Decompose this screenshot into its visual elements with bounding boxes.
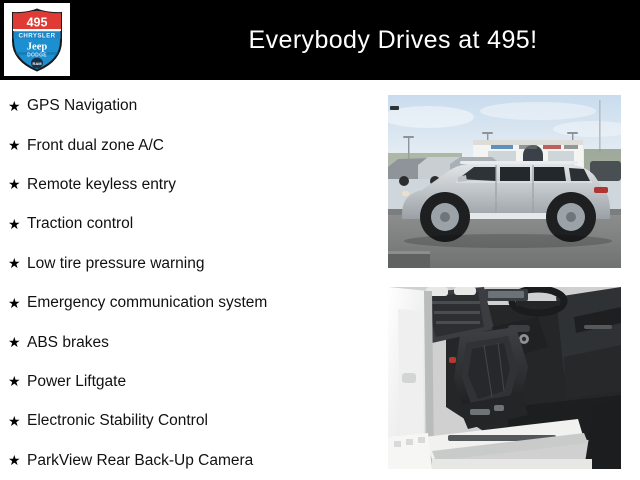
vehicle-exterior-photo[interactable] <box>388 95 621 268</box>
star-bullet-icon: ★ <box>8 177 27 191</box>
slide-root: 495 CHRYSLER Jeep DODGE RAM Everybody Dr… <box>0 0 640 480</box>
list-item: ★ Low tire pressure warning <box>0 244 380 283</box>
svg-text:CHRYSLER: CHRYSLER <box>18 32 55 39</box>
list-item: ★ Traction control <box>0 204 380 243</box>
feature-label: Front dual zone A/C <box>27 137 164 154</box>
495-shield-logo: 495 CHRYSLER Jeep DODGE RAM <box>10 8 64 72</box>
svg-text:DODGE: DODGE <box>27 52 47 58</box>
list-item: ★ GPS Navigation <box>0 86 380 125</box>
list-item: ★ ABS brakes <box>0 322 380 361</box>
feature-label: ParkView Rear Back-Up Camera <box>27 452 253 469</box>
feature-label: Emergency communication system <box>27 294 267 311</box>
feature-label: ABS brakes <box>27 334 109 351</box>
feature-label: Remote keyless entry <box>27 176 176 193</box>
feature-label: GPS Navigation <box>27 97 137 114</box>
list-item: ★ Remote keyless entry <box>0 165 380 204</box>
feature-label: Traction control <box>27 215 133 232</box>
dealer-logo-box[interactable]: 495 CHRYSLER Jeep DODGE RAM <box>4 3 70 76</box>
list-item: ★ Front dual zone A/C <box>0 125 380 164</box>
star-bullet-icon: ★ <box>8 335 27 349</box>
star-bullet-icon: ★ <box>8 99 27 113</box>
list-item: ★ Emergency communication system <box>0 283 380 322</box>
star-bullet-icon: ★ <box>8 374 27 388</box>
feature-list: ★ GPS Navigation ★ Front dual zone A/C ★… <box>0 86 380 480</box>
list-item: ★ ParkView Rear Back-Up Camera <box>0 441 380 480</box>
list-item: ★ Power Liftgate <box>0 362 380 401</box>
interior-photo-graphic <box>388 287 621 469</box>
svg-text:RAM: RAM <box>32 61 42 66</box>
svg-text:Jeep: Jeep <box>27 41 48 52</box>
star-bullet-icon: ★ <box>8 256 27 270</box>
svg-text:495: 495 <box>27 15 48 29</box>
list-item: ★ Electronic Stability Control <box>0 401 380 440</box>
star-bullet-icon: ★ <box>8 453 27 467</box>
shield-icon: 495 CHRYSLER Jeep DODGE RAM <box>10 8 64 72</box>
feature-label: Low tire pressure warning <box>27 255 204 272</box>
header-bar: 495 CHRYSLER Jeep DODGE RAM Everybody Dr… <box>0 0 640 80</box>
vehicle-interior-photo[interactable] <box>388 287 621 469</box>
star-bullet-icon: ★ <box>8 414 27 428</box>
page-title: Everybody Drives at 495! <box>160 0 640 80</box>
exterior-photo-graphic <box>388 95 621 268</box>
feature-label: Power Liftgate <box>27 373 126 390</box>
star-bullet-icon: ★ <box>8 138 27 152</box>
feature-label: Electronic Stability Control <box>27 412 208 429</box>
star-bullet-icon: ★ <box>8 217 27 231</box>
star-bullet-icon: ★ <box>8 296 27 310</box>
